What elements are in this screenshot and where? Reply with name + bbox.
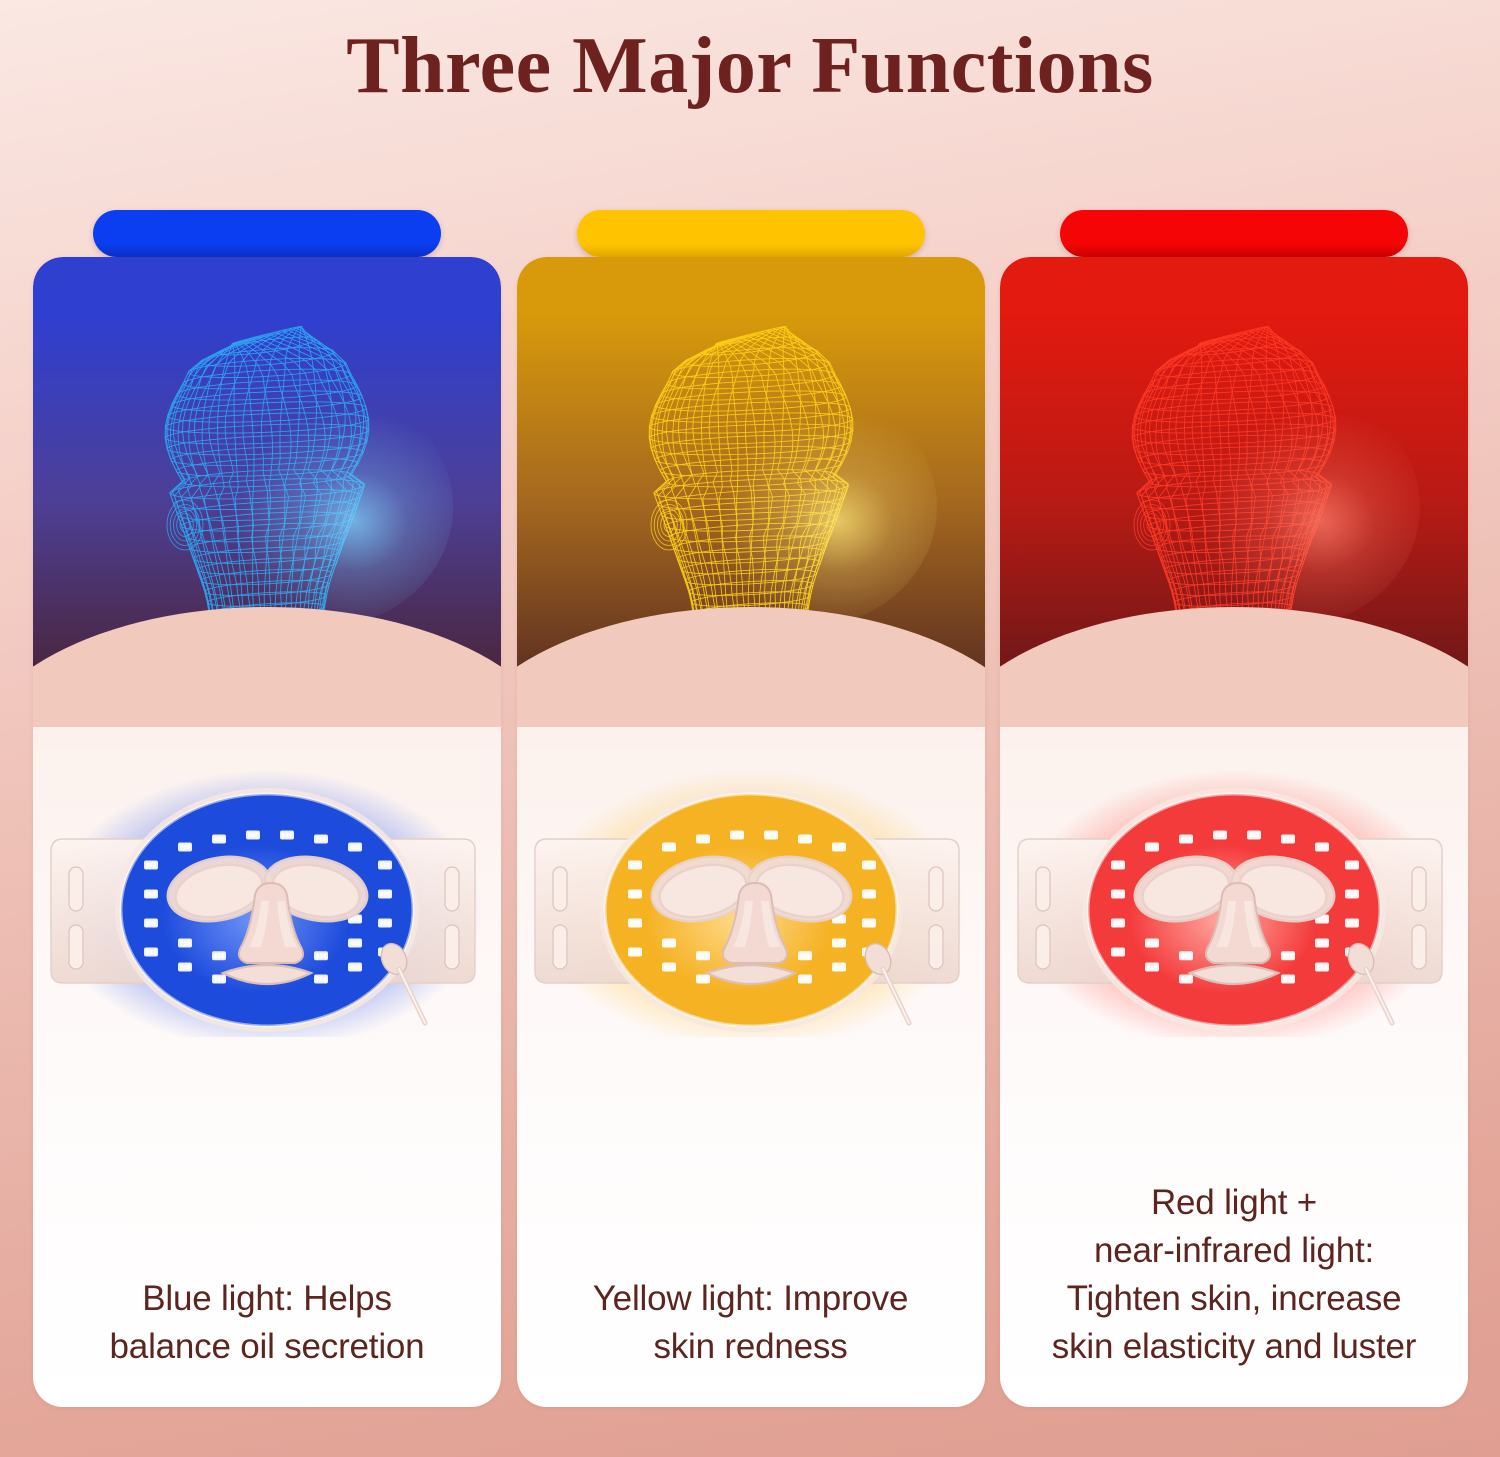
caption-line: Red light + xyxy=(1014,1179,1454,1227)
card-caption-blue: Blue light: Helpsbalance oil secretion xyxy=(47,1275,487,1371)
blue-light-indicator xyxy=(93,210,441,257)
caption-line: skin elasticity and luster xyxy=(1014,1323,1454,1371)
function-column-blue: Blue light: Helpsbalance oil secretion xyxy=(33,200,501,1407)
page-title: Three Major Functions xyxy=(0,18,1500,114)
led-mask-device-red xyxy=(1000,747,1468,1037)
caption-line: balance oil secretion xyxy=(47,1323,487,1371)
card-caption-red: Red light +near-infrared light:Tighten s… xyxy=(1014,1179,1454,1371)
led-mask-device-yellow xyxy=(517,747,985,1037)
function-column-yellow: Yellow light: Improveskin redness xyxy=(517,200,985,1407)
function-columns: Blue light: Helpsbalance oil secretionYe… xyxy=(33,200,1468,1407)
caption-line: near-infrared light: xyxy=(1014,1227,1454,1275)
caption-line: Tighten skin, increase xyxy=(1014,1275,1454,1323)
red-light-indicator xyxy=(1060,210,1408,257)
wireframe-head-panel-red xyxy=(1000,257,1468,727)
page-header: Three Major Functions xyxy=(0,18,1500,114)
function-card-yellow: Yellow light: Improveskin redness xyxy=(517,257,985,1407)
yellow-light-indicator xyxy=(577,210,925,257)
caption-line: Blue light: Helps xyxy=(47,1275,487,1323)
pill-slot-red xyxy=(1000,200,1468,257)
function-card-blue: Blue light: Helpsbalance oil secretion xyxy=(33,257,501,1407)
wireframe-head-panel-yellow xyxy=(517,257,985,727)
caption-line: skin redness xyxy=(531,1323,971,1371)
pill-slot-blue xyxy=(33,200,501,257)
wireframe-head-panel-blue xyxy=(33,257,501,727)
function-column-red: Red light +near-infrared light:Tighten s… xyxy=(1000,200,1468,1407)
function-card-red: Red light +near-infrared light:Tighten s… xyxy=(1000,257,1468,1407)
led-mask-device-blue xyxy=(33,747,501,1037)
card-caption-yellow: Yellow light: Improveskin redness xyxy=(531,1275,971,1371)
caption-line: Yellow light: Improve xyxy=(531,1275,971,1323)
pill-slot-yellow xyxy=(517,200,985,257)
